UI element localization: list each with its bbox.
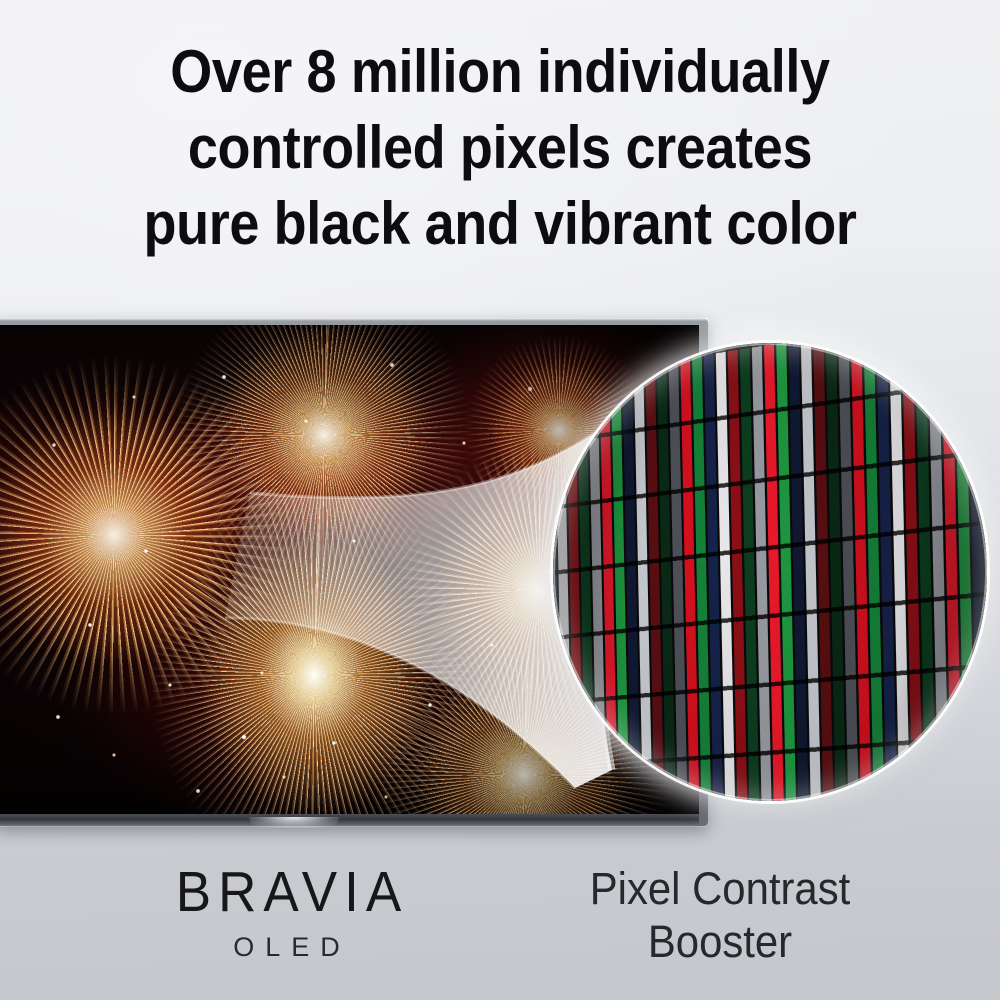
bravia-logo: BRAVIA <box>112 862 472 923</box>
tv-stand-nub <box>249 817 339 828</box>
feature-label-line-2: Booster <box>534 915 906 968</box>
feature-label: Pixel Contrast Booster <box>534 862 906 968</box>
headline-line-3: pure black and vibrant color <box>50 186 950 262</box>
magnifier-rim <box>553 343 987 801</box>
brand-row: BRAVIA OLED Pixel Contrast Booster <box>0 856 1000 986</box>
headline-line-2: controlled pixels creates <box>50 110 950 186</box>
page-title: Over 8 million individually controlled p… <box>50 34 950 262</box>
pixel-magnifier-circle <box>553 343 987 801</box>
oled-sublabel: OLED <box>112 931 472 963</box>
product-feature-card: Over 8 million individually controlled p… <box>0 0 1000 1000</box>
feature-label-line-1: Pixel Contrast <box>534 862 906 915</box>
headline-line-1: Over 8 million individually <box>50 34 950 110</box>
tv-bottom-lip <box>0 814 699 826</box>
